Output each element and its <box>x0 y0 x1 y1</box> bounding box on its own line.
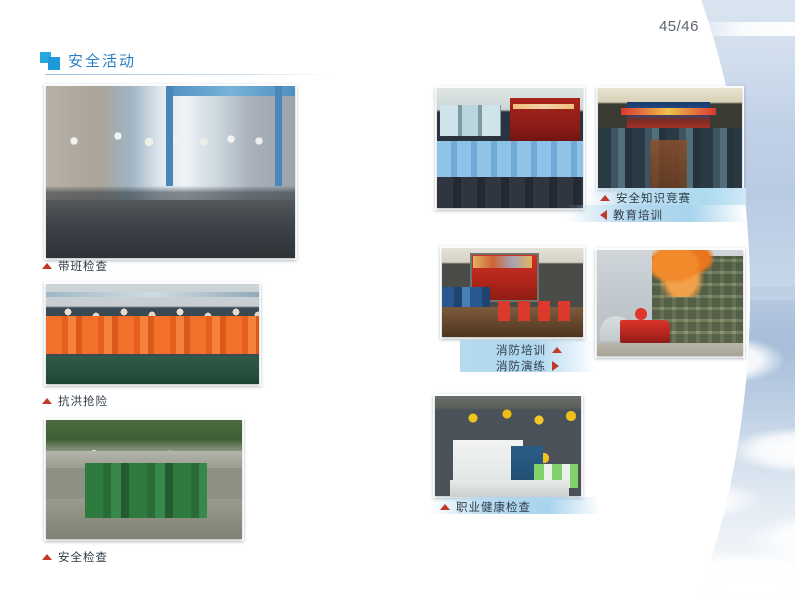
caption-occupational-health: 职业健康检查 <box>440 499 531 515</box>
caption-label: 安全知识竞赛 <box>616 190 691 206</box>
caption-fire-drill: 消防演练 <box>496 358 559 374</box>
caption-fire-training: 消防培训 <box>496 342 562 358</box>
caption-label: 安全检查 <box>58 549 108 565</box>
triangle-up-icon <box>600 195 610 201</box>
triangle-up-icon <box>42 398 52 404</box>
corner-ribbon <box>699 22 795 36</box>
brochure-page: 45/46 安全活动 带班检查 抗洪抢险 安全 <box>0 0 795 600</box>
triangle-up-icon <box>552 347 562 353</box>
triangle-right-icon <box>552 361 559 371</box>
caption-label: 抗洪抢险 <box>58 393 108 409</box>
title-divider <box>45 74 330 75</box>
caption-label: 消防培训 <box>496 342 546 358</box>
page-number: 45/46 <box>659 18 699 35</box>
photo-fire-drill <box>597 250 743 356</box>
photo-flood-rescue <box>46 284 259 384</box>
caption-label: 职业健康检查 <box>456 499 531 515</box>
photo-shift-inspection <box>46 86 295 258</box>
triangle-up-icon <box>42 554 52 560</box>
caption-shift-inspection: 带班检查 <box>42 258 108 274</box>
photo-fire-training <box>442 248 583 337</box>
caption-flood-rescue: 抗洪抢险 <box>42 393 108 409</box>
page-title: 安全活动 <box>40 50 136 71</box>
triangle-up-icon <box>42 263 52 269</box>
caption-safety-inspection: 安全检查 <box>42 549 108 565</box>
caption-label: 教育培训 <box>613 207 663 223</box>
caption-label: 消防演练 <box>496 358 546 374</box>
photo-safety-knowledge-contest <box>598 88 742 188</box>
caption-safety-knowledge-contest: 安全知识竞赛 <box>600 190 691 206</box>
photo-occupational-health <box>435 396 581 496</box>
blue-square-marker-icon <box>40 52 60 70</box>
caption-education-training: 教育培训 <box>600 207 663 223</box>
photo-safety-inspection <box>46 420 242 539</box>
caption-label: 带班检查 <box>58 258 108 274</box>
triangle-left-icon <box>600 210 607 220</box>
page-title-label: 安全活动 <box>68 50 136 71</box>
photo-education-training <box>437 88 583 208</box>
triangle-up-icon <box>440 504 450 510</box>
